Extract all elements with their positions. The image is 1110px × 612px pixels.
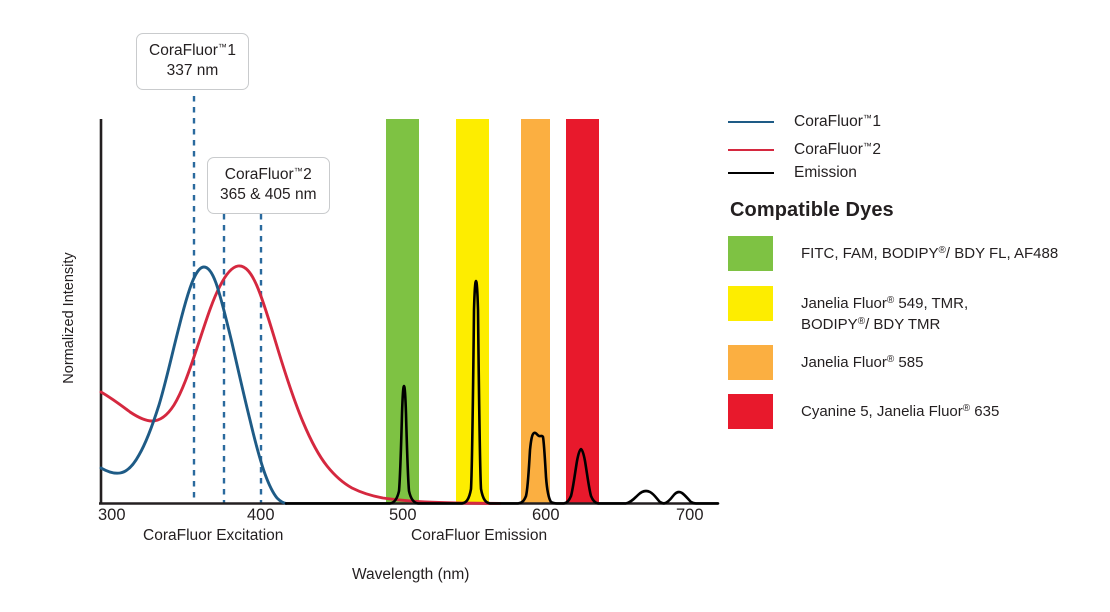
trademark-icon: ™	[863, 113, 872, 123]
dye-item-orange: Janelia Fluor® 585	[728, 345, 923, 380]
dye-label: FITC, FAM, BODIPY®/ BDY FL, AF488	[801, 236, 1058, 265]
callout-cf1-title: CoraFluor™1	[149, 41, 236, 61]
dye-label: Janelia Fluor® 549, TMR,BODIPY®/ BDY TMR	[801, 286, 968, 335]
x-axis-title: Wavelength (nm)	[352, 566, 469, 584]
legend-item-corafluor-1: CoraFluor™1	[728, 113, 881, 131]
color-swatch-orange	[728, 345, 773, 380]
dye-item-red: Cyanine 5, Janelia Fluor® 635	[728, 394, 999, 429]
legend-line-swatch	[728, 149, 774, 151]
dye-label-line2: BODIPY®/ BDY TMR	[801, 315, 968, 336]
callout-corafluor-1: CoraFluor™1 337 nm	[136, 33, 249, 90]
band-red	[566, 119, 599, 503]
callout-cf1-value: 337 nm	[149, 61, 236, 81]
color-swatch-red	[728, 394, 773, 429]
curve-corafluor-2	[101, 266, 500, 503]
region-label-excitation: CoraFluor Excitation	[143, 527, 283, 545]
color-swatch-green	[728, 236, 773, 271]
callout-cf2-title: CoraFluor™2	[220, 165, 317, 185]
curve-emission	[286, 281, 718, 503]
x-tick-label-700: 700	[676, 506, 704, 525]
y-axis-title: Normalized Intensity	[61, 223, 77, 413]
compatible-dye-bands	[386, 119, 599, 503]
legend-item-corafluor-2: CoraFluor™2	[728, 141, 881, 159]
x-tick-label-600: 600	[532, 506, 560, 525]
spectra-chart: CoraFluor™1 337 nm CoraFluor™2 365 & 405…	[0, 0, 730, 612]
legend-label: CoraFluor™2	[794, 141, 881, 159]
registered-icon: ®	[939, 245, 946, 256]
figure-root: CoraFluor™1 337 nm CoraFluor™2 365 & 405…	[0, 0, 1110, 612]
registered-icon: ®	[858, 316, 865, 327]
dye-label: Cyanine 5, Janelia Fluor® 635	[801, 394, 999, 423]
dye-item-yellow: Janelia Fluor® 549, TMR,BODIPY®/ BDY TMR	[728, 286, 968, 335]
trademark-icon: ™	[863, 141, 872, 151]
legend-label: Emission	[794, 164, 857, 182]
x-tick-label-400: 400	[247, 506, 275, 525]
legend-item-emission: Emission	[728, 164, 857, 182]
callout-cf2-value: 365 & 405 nm	[220, 185, 317, 205]
band-orange	[521, 119, 550, 503]
dye-item-green: FITC, FAM, BODIPY®/ BDY FL, AF488	[728, 236, 1058, 271]
trademark-icon: ™	[294, 166, 303, 176]
band-green	[386, 119, 419, 503]
x-tick-label-500: 500	[389, 506, 417, 525]
compatible-dyes-heading: Compatible Dyes	[730, 199, 894, 222]
legend-line-swatch	[728, 172, 774, 174]
callout-corafluor-2: CoraFluor™2 365 & 405 nm	[207, 157, 330, 214]
color-swatch-yellow	[728, 286, 773, 321]
legend-label: CoraFluor™1	[794, 113, 881, 131]
region-label-emission: CoraFluor Emission	[411, 527, 547, 545]
legend-line-swatch	[728, 121, 774, 123]
x-tick-label-300: 300	[98, 506, 126, 525]
trademark-icon: ™	[218, 42, 227, 52]
legend-panel: CoraFluor™1 CoraFluor™2 Emission Compati…	[728, 0, 1110, 612]
dye-label: Janelia Fluor® 585	[801, 345, 923, 374]
